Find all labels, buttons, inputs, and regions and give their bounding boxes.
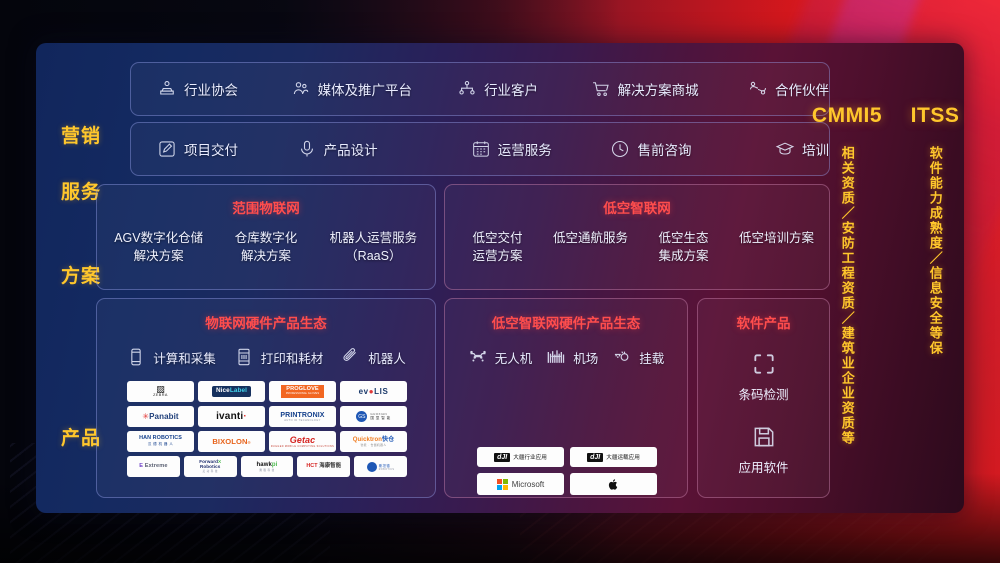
product-title-iot: 物联网硬件产品生态	[97, 312, 435, 332]
partner-logo-grid-lowaltitude: dJI大疆行业应用 dJI大疆运载应用 Microsoft	[477, 447, 657, 495]
service-item-product-design[interactable]: 产品设计	[297, 139, 471, 159]
product-category-label: 机器人	[368, 348, 406, 367]
solution-card-lowaltitude: 低空智联网 低空交付 运营方案 低空通航服务 低空生态 集成方案 低空培训方案	[444, 184, 830, 290]
logo-getac[interactable]: GetacRUGGED MOBILE COMPUTING SOLUTIONS	[269, 431, 336, 452]
product-category-label: 无人机	[495, 348, 533, 367]
solution-item[interactable]: 低空生态 集成方案	[637, 229, 730, 265]
marketing-card: 行业协会 媒体及推广平台 行业客户 解决方案商城 合作伙伴	[130, 62, 830, 116]
rail-label-marketing: 营销	[42, 121, 120, 148]
product-category-robot[interactable]: 机器人	[341, 347, 406, 367]
product-category-print-consumable[interactable]: 打印和耗材	[234, 347, 324, 367]
service-item-label: 产品设计	[324, 139, 378, 159]
product-category-airport[interactable]: 机场	[546, 347, 598, 367]
solution-item[interactable]: 机器人运营服务 （RaaS）	[320, 229, 427, 265]
product-card-iot-hardware: 物联网硬件产品生态 计算和采集 打印和耗材 机器人 ▨ ZEBRA	[96, 298, 436, 498]
certification-description: 相关资质／安防工程资质／建筑业企业资质等	[837, 146, 857, 446]
service-item-label: 运营服务	[498, 139, 552, 159]
logo-han-robotics[interactable]: HAN ROBOTICS汉 德 机 器 人	[127, 431, 194, 452]
solution-item[interactable]: 仓库数字化 解决方案	[212, 229, 319, 265]
marketing-item-label: 行业协会	[184, 79, 238, 99]
service-item-label: 项目交付	[184, 139, 238, 159]
logo-apple[interactable]	[570, 473, 657, 495]
drone-icon	[468, 347, 488, 367]
marketing-item-media-promotion[interactable]: 媒体及推广平台	[291, 79, 458, 99]
partner-handshake-icon	[748, 79, 768, 99]
logo-row: ✳Panabit ivanti· PRINTRONIXAUTO ID TECHN…	[127, 406, 407, 427]
logo-nicelabel[interactable]: NiceLabel	[198, 381, 265, 402]
industry-association-icon	[157, 79, 177, 99]
service-item-presales[interactable]: 售前咨询	[610, 139, 775, 159]
marketing-item-industry-customer[interactable]: 行业客户	[457, 79, 591, 99]
logo-row: Microsoft	[477, 473, 657, 495]
product-category-label: 打印和耗材	[261, 348, 324, 367]
product-category-payload[interactable]: 挂载	[612, 347, 664, 367]
product-category-compute-collect[interactable]: 计算和采集	[126, 347, 216, 367]
logo-ivanti[interactable]: ivanti·	[198, 406, 265, 427]
logo-row: E Extreme ForwardXRobotics灵 动 科 技 hawkpi…	[127, 456, 407, 477]
certification-title: ITSS	[911, 104, 960, 128]
marketing-item-label: 解决方案商城	[618, 79, 699, 99]
project-delivery-icon	[157, 139, 177, 159]
robot-arm-icon	[341, 347, 361, 367]
solution-item[interactable]: 低空通航服务	[544, 229, 637, 265]
service-item-label: 售前咨询	[637, 139, 691, 159]
service-item-operations[interactable]: 运营服务	[471, 139, 611, 159]
solution-title-lowaltitude: 低空智联网	[445, 197, 829, 217]
microphone-icon	[297, 139, 317, 159]
printer-consumable-icon	[234, 347, 254, 367]
logo-panabit[interactable]: ✳Panabit	[127, 406, 194, 427]
product-category-label: 计算和采集	[153, 348, 216, 367]
logo-proglove[interactable]: PROGLOVEPROFESSIONAL GLOVES	[269, 381, 336, 402]
logo-forwardx[interactable]: ForwardXRobotics灵 动 科 技	[184, 456, 237, 477]
partner-logo-grid-iot: ▨ ZEBRA NiceLabel PROGLOVEPROFESSIONAL G…	[127, 381, 407, 477]
product-card-lowaltitude-hardware: 低空智联网硬件产品生态 无人机 机场 挂载 dJI大疆行业应用 dJI大疆	[444, 298, 688, 498]
logo-row: dJI大疆行业应用 dJI大疆运载应用	[477, 447, 657, 467]
marketing-item-label: 媒体及推广平台	[318, 79, 413, 99]
logo-dji-enterprise[interactable]: dJI大疆行业应用	[477, 447, 564, 467]
logo-row: HAN ROBOTICS汉 德 机 器 人 BIXOLON® GetacRUGG…	[127, 431, 407, 452]
product-category-label: 挂载	[639, 348, 664, 367]
solution-card-iot: 范围物联网 AGV数字化仓储 解决方案 仓库数字化 解决方案 机器人运营服务 （…	[96, 184, 436, 290]
logo-hawkpi[interactable]: hawkpi鹰 眼 科 技	[241, 456, 294, 477]
logo-gs[interactable]: GS GUOXIAN国 显 智 能	[340, 406, 407, 427]
marketing-item-solution-mall[interactable]: 解决方案商城	[591, 79, 748, 99]
service-card: 项目交付 产品设计 运营服务 售前咨询 培训	[130, 122, 830, 176]
shopping-cart-icon	[591, 79, 611, 99]
logo-evolis[interactable]: ev●LIS	[340, 381, 407, 402]
logo-dji-delivery[interactable]: dJI大疆运载应用	[570, 447, 657, 467]
certification-column-cmmi5: CMMI5 相关资质／安防工程资质／建筑业企业资质等	[805, 0, 889, 563]
industry-customer-icon	[457, 79, 477, 99]
media-promotion-icon	[291, 79, 311, 99]
solution-item[interactable]: AGV数字化仓储 解决方案	[105, 229, 212, 265]
logo-standard-robots[interactable]: 斯坦德ROBOTICS	[354, 456, 407, 477]
apple-icon	[607, 478, 620, 491]
logo-extreme[interactable]: E Extreme	[127, 456, 180, 477]
logo-zebra[interactable]: ▨ ZEBRA	[127, 381, 194, 402]
product-category-drone[interactable]: 无人机	[468, 347, 533, 367]
product-title-lowaltitude: 低空智联网硬件产品生态	[445, 312, 687, 332]
logo-bixolon[interactable]: BIXOLON®	[198, 431, 265, 452]
service-item-project-delivery[interactable]: 项目交付	[157, 139, 297, 159]
tablet-device-icon	[126, 347, 146, 367]
calendar-icon	[471, 139, 491, 159]
payload-mount-icon	[612, 347, 632, 367]
certification-description: 软件能力成熟度／信息安全等保	[925, 146, 945, 396]
product-category-label: 机场	[573, 348, 598, 367]
certification-title: CMMI5	[812, 104, 882, 128]
solution-title-iot: 范围物联网	[97, 197, 435, 217]
marketing-item-label: 行业客户	[484, 79, 538, 99]
clock-icon	[610, 139, 630, 159]
certification-column-itss: ITSS 软件能力成熟度／信息安全等保	[893, 0, 977, 563]
airport-icon	[546, 347, 566, 367]
barcode-scan-icon	[751, 351, 777, 377]
marketing-item-industry-association[interactable]: 行业协会	[157, 79, 291, 99]
logo-hct[interactable]: HCT 海康智能	[297, 456, 350, 477]
logo-row: ▨ ZEBRA NiceLabel PROGLOVEPROFESSIONAL G…	[127, 381, 407, 402]
logo-microsoft[interactable]: Microsoft	[477, 473, 564, 495]
logo-printronix[interactable]: PRINTRONIXAUTO ID TECHNOLOGY	[269, 406, 336, 427]
floppy-disk-icon	[751, 424, 777, 450]
graduation-cap-icon	[775, 139, 795, 159]
solution-item[interactable]: 低空交付 运营方案	[451, 229, 544, 265]
logo-quicktron[interactable]: Quicktron快仓智能 · 仓储机器人	[340, 431, 407, 452]
